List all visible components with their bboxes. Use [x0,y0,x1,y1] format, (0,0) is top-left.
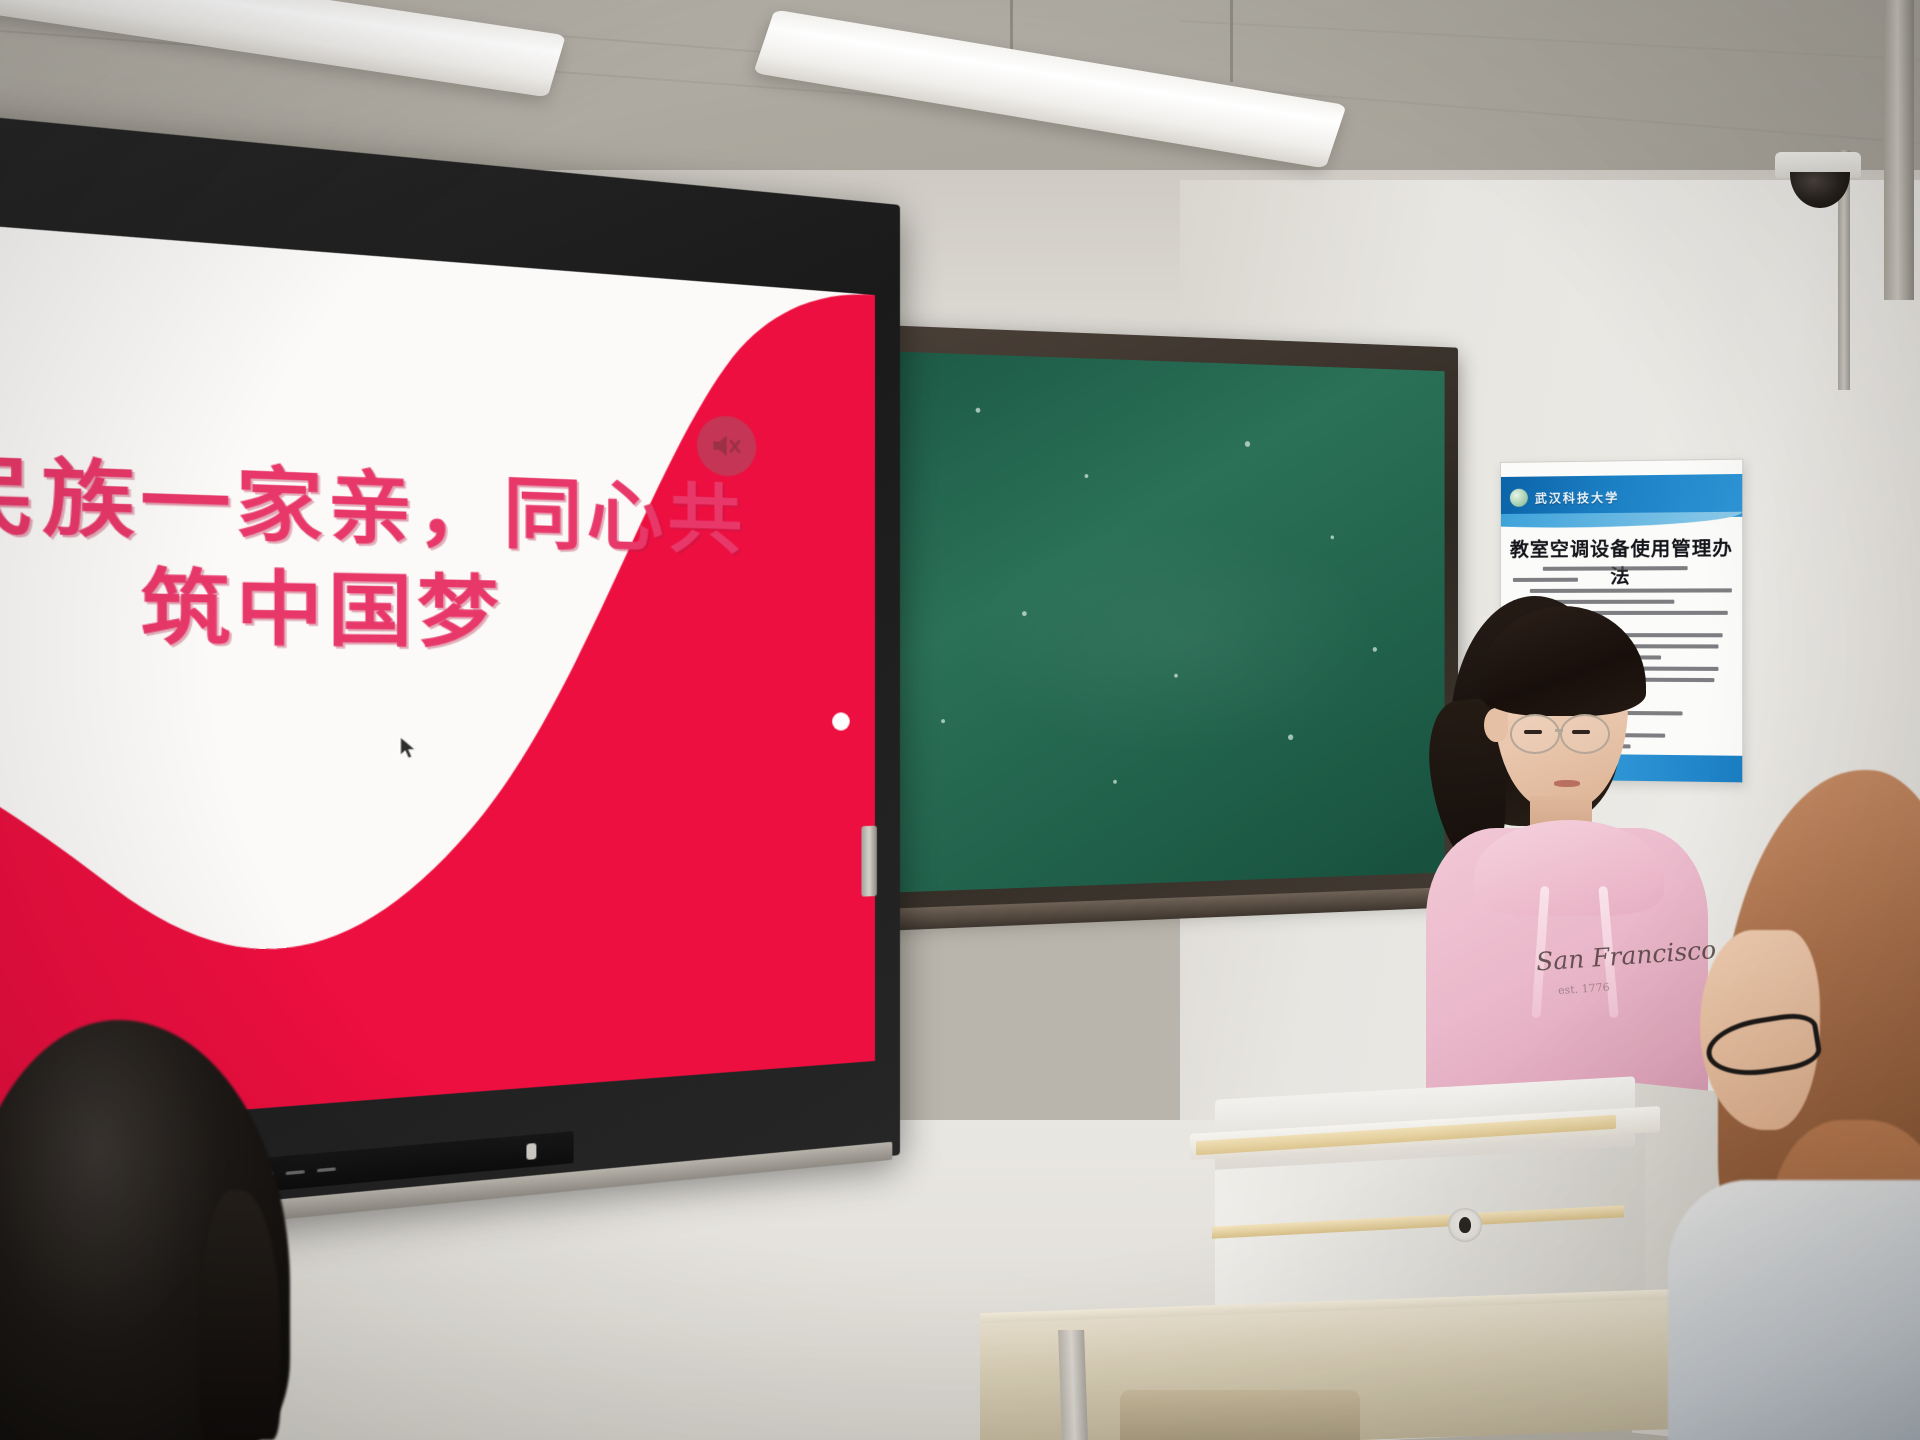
chalk-smudge [964,515,1382,762]
chalk-speck [976,408,981,413]
status-indicator [526,1142,536,1159]
light-suspension-rod [1230,0,1233,82]
mouse-pointer-icon [400,736,419,760]
chalk-speck [1288,735,1293,741]
blackboard-surface[interactable] [894,351,1445,892]
display-side-latch[interactable] [861,826,876,897]
presenter-ear [1484,708,1508,742]
chair-back [1120,1390,1360,1440]
ceiling-seam [1180,20,1920,62]
eyeglasses-icon [1510,714,1560,754]
chalk-speck [1245,441,1250,447]
cable-port-icon[interactable] [1448,1208,1482,1242]
presenter-mouth [1554,780,1580,787]
chalk-speck [941,719,945,723]
wall-conduit-pipe [1884,0,1914,300]
control-dash [286,1169,305,1174]
slide-canvas[interactable]: 华民族一家亲，同心共 筑中国梦 [0,199,875,1156]
poster-university-name: 武汉科技大学 [1535,488,1620,506]
blackboard [880,325,1458,915]
audience-right-shoulders [1668,1180,1920,1440]
eyeglasses-bridge [1555,729,1563,732]
eyeglasses-icon [1560,714,1610,754]
chalk-speck [1085,474,1089,478]
speaker-muted-glyph [711,432,742,460]
presenter: San Francisco est. 1776 [1418,590,1718,1150]
slide-accent-wave [0,199,875,1156]
chalk-speck [1330,535,1333,539]
control-dash [317,1167,336,1172]
presenter-eye [1524,730,1542,734]
slide-edge-dot [832,712,850,730]
poster-header: 武汉科技大学 [1501,474,1742,519]
chalk-speck [1372,647,1376,652]
desk-leg [1058,1330,1088,1440]
presenter-eye [1572,730,1590,734]
classroom-scene: 武汉科技大学 教室空调设备使用管理办法 [0,0,1920,1440]
university-seal-icon [1510,489,1528,507]
chalk-speck [1113,779,1117,783]
